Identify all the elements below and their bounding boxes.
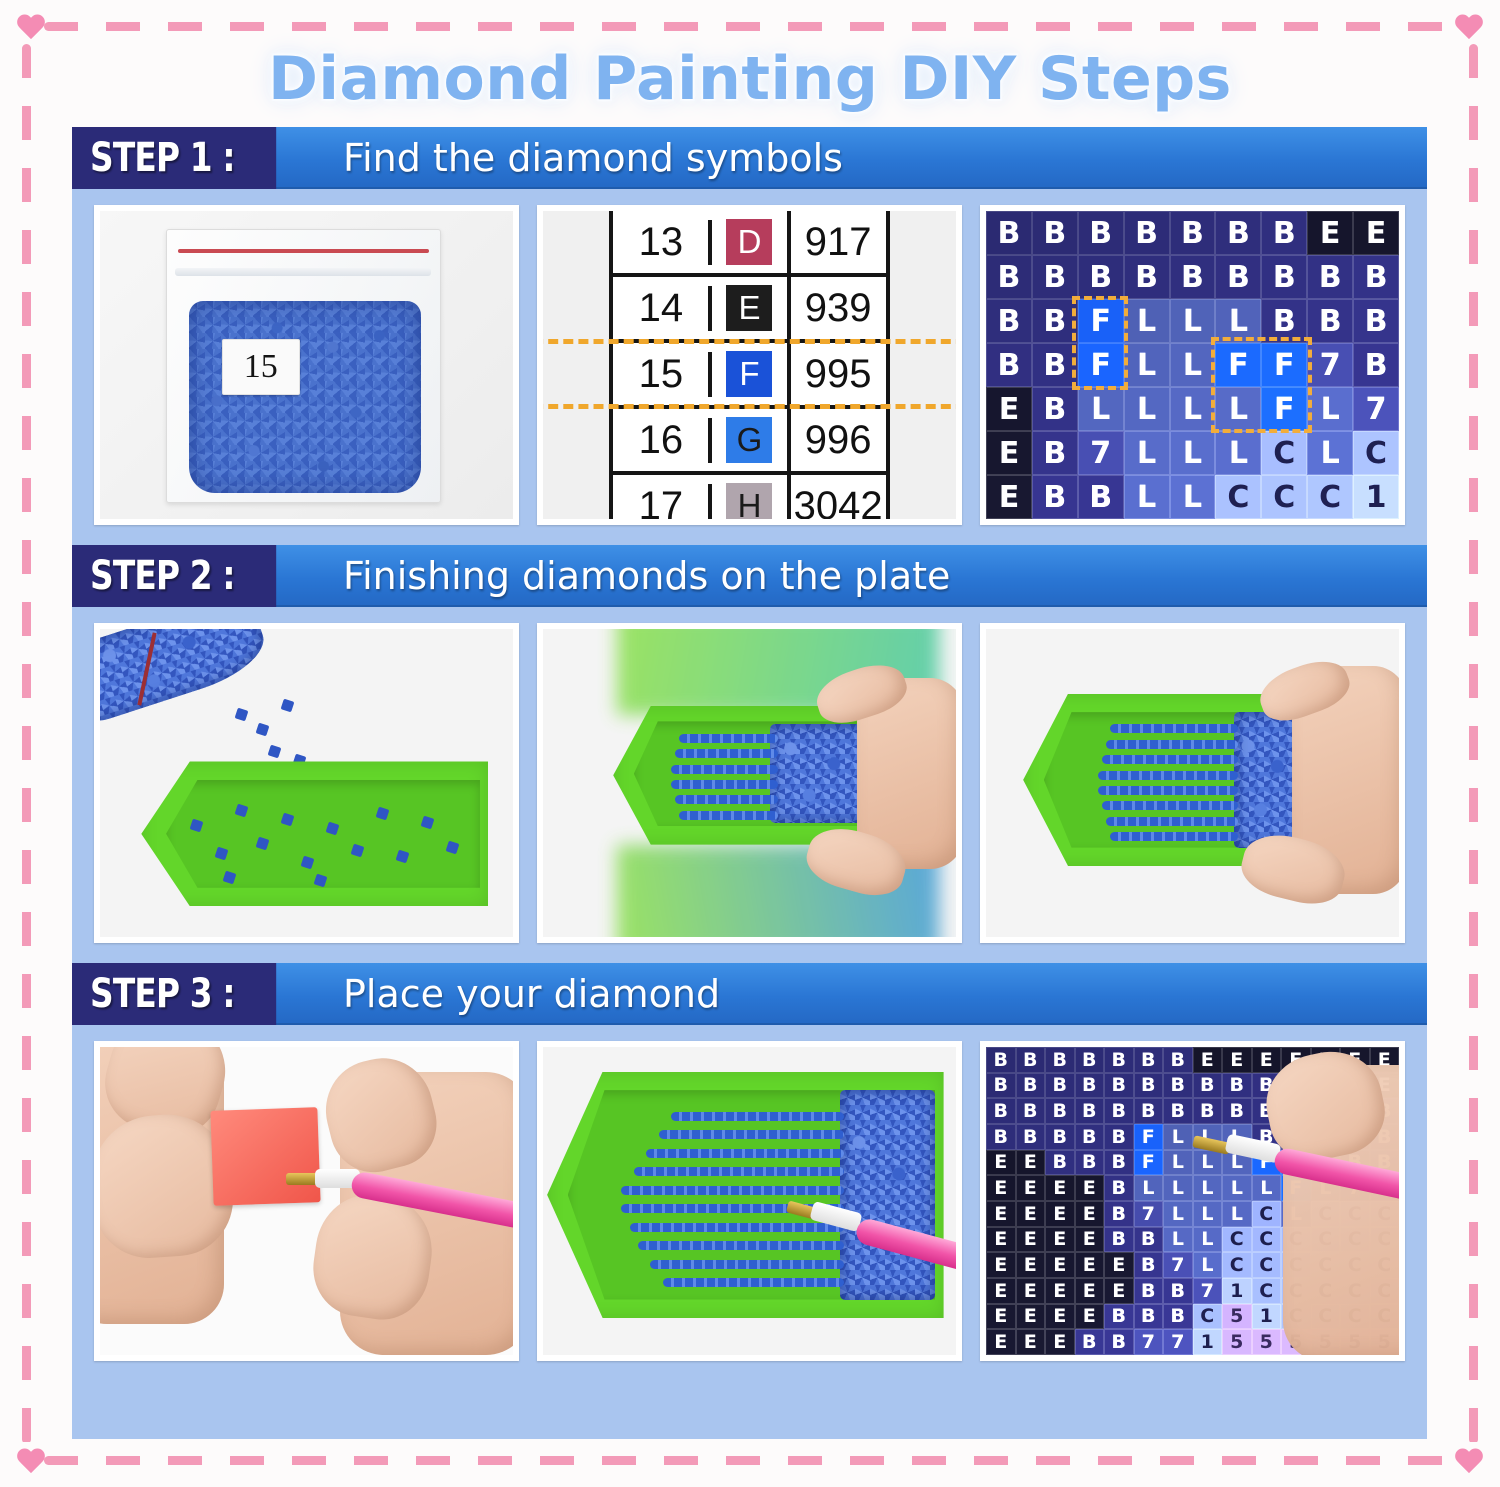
- grid-cell: L: [1163, 1175, 1193, 1201]
- grid-cell: B: [1261, 255, 1307, 299]
- grid-cell: E: [986, 1227, 1016, 1253]
- grid-cell: B: [1104, 1227, 1134, 1253]
- grid-cell: B: [1353, 255, 1399, 299]
- grid-cell: L: [1307, 431, 1353, 475]
- grid-cell: B: [1193, 1073, 1223, 1099]
- grid-cell: E: [1252, 1047, 1282, 1073]
- chart-row-symbol: G: [712, 409, 790, 471]
- grid-cell: L: [1124, 431, 1170, 475]
- grid-cell: B: [1170, 255, 1216, 299]
- grid-cell: B: [986, 1098, 1016, 1124]
- grid-cell: B: [1134, 1098, 1164, 1124]
- grid-cell: 1: [1193, 1329, 1223, 1355]
- symbol-chip: H: [726, 483, 772, 519]
- chart-row: 15F995: [613, 343, 886, 409]
- steps-panel: STEP 1 : Find the diamond symbols 15: [72, 127, 1427, 1439]
- grid-cell: B: [1222, 1098, 1252, 1124]
- grid-cell: B: [1353, 299, 1399, 343]
- grid-cell: C: [1261, 431, 1307, 475]
- chart-row-code: 917: [791, 220, 886, 265]
- symbol-chip: D: [726, 219, 772, 265]
- grid-cell: B: [1134, 1047, 1164, 1073]
- grid-cell: L: [1215, 431, 1261, 475]
- grid-cell: B: [1261, 211, 1307, 255]
- grid-cell: L: [1170, 299, 1216, 343]
- grid-cell: 5: [1252, 1329, 1282, 1355]
- grid-cell: E: [1045, 1329, 1075, 1355]
- grid-cell: E: [986, 1252, 1016, 1278]
- grid-cell: B: [1163, 1278, 1193, 1304]
- grid-cell: E: [1104, 1252, 1134, 1278]
- grid-cell: B: [1104, 1047, 1134, 1073]
- chart-row-code: 996: [791, 418, 886, 463]
- grid-cell: B: [1075, 1124, 1105, 1150]
- grid-cell: 7: [1353, 387, 1399, 431]
- grid-cell: C: [1252, 1227, 1282, 1253]
- step-1-title: Find the diamond symbols: [321, 127, 843, 189]
- grid-cell: B: [1104, 1329, 1134, 1355]
- grid-cell: B: [1134, 1278, 1164, 1304]
- chart-row-symbol: F: [712, 343, 790, 405]
- grid-cell: B: [1032, 431, 1078, 475]
- grid-cell: B: [1032, 211, 1078, 255]
- grid-cell: C: [1252, 1278, 1282, 1304]
- grid-cell: B: [986, 255, 1032, 299]
- grid-cell: L: [1170, 343, 1216, 387]
- chart-row: 13D917: [613, 211, 886, 277]
- grid-cell: B: [1104, 1124, 1134, 1150]
- grid-cell: B: [1163, 1098, 1193, 1124]
- grid-cell: B: [986, 299, 1032, 343]
- grid-cell: L: [1124, 299, 1170, 343]
- grid-cell: B: [1222, 1073, 1252, 1099]
- step-2-images: [72, 607, 1427, 963]
- grid-cell: E: [1075, 1278, 1105, 1304]
- grid-cell: E: [1016, 1201, 1046, 1227]
- step-3-header: STEP 3 : Place your diamond: [72, 963, 1427, 1025]
- bag-zip-seal: [178, 249, 429, 253]
- grid-cell: B: [1104, 1304, 1134, 1330]
- symbol-chip: G: [726, 417, 772, 463]
- grid-cell: E: [986, 1278, 1016, 1304]
- grid-cell: C: [1215, 475, 1261, 519]
- grid-cell: B: [1124, 211, 1170, 255]
- section-step-2: STEP 2 : Finishing diamonds on the plate: [72, 545, 1427, 963]
- step-1-header: STEP 1 : Find the diamond symbols: [72, 127, 1427, 189]
- symbol-chart-table: 13D91714E93915F99516G99617H3042: [609, 211, 890, 519]
- grid-cell: L: [1193, 1201, 1223, 1227]
- grid-cell: B: [1075, 1098, 1105, 1124]
- grid-cell: L: [1252, 1175, 1282, 1201]
- grid-cell: L: [1170, 431, 1216, 475]
- grid-cell: B: [1016, 1098, 1046, 1124]
- grid-cell: L: [1163, 1201, 1193, 1227]
- grid-cell: E: [1307, 211, 1353, 255]
- grid-cell: B: [1261, 299, 1307, 343]
- grid-cell: L: [1222, 1201, 1252, 1227]
- grid-cell: E: [986, 387, 1032, 431]
- grid-cell: B: [1045, 1150, 1075, 1176]
- grid-cell: E: [1016, 1252, 1046, 1278]
- chart-row-number: 14: [613, 286, 712, 331]
- grid-cell: F: [1261, 387, 1307, 431]
- shake-tray-photo: [537, 623, 962, 943]
- border-dash-left: [22, 44, 31, 1444]
- grid-cell: B: [1134, 1304, 1164, 1330]
- grid-cell: 5: [1222, 1304, 1252, 1330]
- grid-cell: L: [1134, 1175, 1164, 1201]
- grid-cell: B: [1170, 211, 1216, 255]
- grid-cell: 7: [1163, 1329, 1193, 1355]
- symbol-chip: F: [726, 351, 772, 397]
- grid-cell: E: [1016, 1227, 1046, 1253]
- step-3-title: Place your diamond: [321, 963, 720, 1025]
- grid-cell: E: [1045, 1227, 1075, 1253]
- step-3-badge: STEP 3 :: [72, 963, 276, 1025]
- chart-row: 16G996: [613, 409, 886, 475]
- grid-cell: B: [1193, 1098, 1223, 1124]
- grid-cell: C: [1222, 1227, 1252, 1253]
- chart-row-number: 15: [613, 352, 712, 397]
- grid-cell: E: [1045, 1201, 1075, 1227]
- grid-cell: B: [986, 343, 1032, 387]
- grid-cell: L: [1215, 299, 1261, 343]
- grid-cell: B: [1134, 1252, 1164, 1278]
- grid-cell: B: [1045, 1098, 1075, 1124]
- chart-row-number: 16: [613, 418, 712, 463]
- grid-cell: E: [1222, 1047, 1252, 1073]
- grid-cell: L: [1124, 343, 1170, 387]
- grid-cell: B: [1163, 1304, 1193, 1330]
- grid-cell: E: [1104, 1278, 1134, 1304]
- bead-heap: [840, 1090, 935, 1299]
- page-title-wrap: Diamond Painting DIY Steps: [0, 36, 1500, 122]
- grid-cell: E: [1016, 1175, 1046, 1201]
- grid-cell: E: [986, 1175, 1016, 1201]
- grid-cell: L: [1170, 475, 1216, 519]
- step-1-badge: STEP 1 :: [72, 127, 276, 189]
- symbol-chart-photo: 13D91714E93915F99516G99617H3042: [537, 205, 962, 525]
- grid-cell: 1: [1222, 1278, 1252, 1304]
- grid-cell: B: [1215, 255, 1261, 299]
- grid-cell: E: [986, 1150, 1016, 1176]
- wax-square: [210, 1107, 321, 1206]
- grid-cell: F: [1261, 343, 1307, 387]
- grid-cell: L: [1170, 387, 1216, 431]
- border-dash-bottom: [44, 1456, 1456, 1465]
- grid-cell: E: [1075, 1252, 1105, 1278]
- grid-cell: B: [1215, 211, 1261, 255]
- page-title: Diamond Painting DIY Steps: [268, 44, 1232, 114]
- symbol-chip: E: [726, 285, 772, 331]
- wax-pen-photo: [94, 1041, 519, 1361]
- grid-cell: E: [986, 1201, 1016, 1227]
- grid-cell: B: [1353, 343, 1399, 387]
- grid-cell: E: [1016, 1329, 1046, 1355]
- chart-row: 14E939: [613, 277, 886, 343]
- grid-cell: B: [1134, 1073, 1164, 1099]
- pick-bead-photo: [537, 1041, 962, 1361]
- grid-cell: 7: [1134, 1201, 1164, 1227]
- chart-row-symbol: D: [712, 211, 790, 273]
- grid-cell: B: [986, 1047, 1016, 1073]
- poster-root: Diamond Painting DIY Steps STEP 1 : Find…: [0, 0, 1500, 1487]
- grid-cell: F: [1134, 1124, 1164, 1150]
- grid-cell: F: [1134, 1150, 1164, 1176]
- grid-cell: L: [1078, 387, 1124, 431]
- grid-cell: L: [1124, 387, 1170, 431]
- grid-cell: B: [1016, 1047, 1046, 1073]
- chart-row-number: 13: [613, 220, 712, 265]
- grid-cell: E: [1016, 1304, 1046, 1330]
- grid-cell: 1: [1353, 475, 1399, 519]
- grid-cell: B: [1045, 1124, 1075, 1150]
- chart-row-number: 17: [613, 484, 712, 520]
- grid-cell: B: [1075, 1047, 1105, 1073]
- grid-cell: L: [1215, 387, 1261, 431]
- grid-cell: E: [1075, 1227, 1105, 1253]
- grid-cell: B: [1104, 1098, 1134, 1124]
- grid-cell: B: [1016, 1124, 1046, 1150]
- grid-cell: L: [1163, 1124, 1193, 1150]
- chart-row-symbol: H: [712, 475, 790, 519]
- grid-cell: E: [1353, 211, 1399, 255]
- bead-bag-photo: 15: [94, 205, 519, 525]
- border-dash-top: [44, 22, 1456, 31]
- grid-cell: B: [1104, 1073, 1134, 1099]
- grid-cell: L: [1193, 1227, 1223, 1253]
- chart-row: 17H3042: [613, 475, 886, 519]
- grid-cell: E: [1045, 1278, 1075, 1304]
- grid-cell: E: [1193, 1047, 1223, 1073]
- grid-cell: L: [1193, 1252, 1223, 1278]
- grid-cell: L: [1163, 1150, 1193, 1176]
- grid-cell: B: [1032, 255, 1078, 299]
- grid-cell: 5: [1222, 1329, 1252, 1355]
- grid-cell: E: [1045, 1175, 1075, 1201]
- chart-row-code: 939: [791, 286, 886, 331]
- grid-cell: E: [1016, 1150, 1046, 1176]
- grid-cell: B: [1016, 1073, 1046, 1099]
- grid-cell: 7: [1134, 1329, 1164, 1355]
- grid-cell: F: [1078, 299, 1124, 343]
- grid-cell: E: [1045, 1252, 1075, 1278]
- grid-cell: B: [1307, 299, 1353, 343]
- grid-cell: C: [1193, 1304, 1223, 1330]
- grid-cell: B: [1163, 1047, 1193, 1073]
- bag-zip-track: [175, 268, 431, 276]
- grid-cell: E: [986, 431, 1032, 475]
- grid-cell: L: [1163, 1227, 1193, 1253]
- grid-cell: E: [1075, 1201, 1105, 1227]
- grid-cell: B: [1032, 299, 1078, 343]
- grid-cell: B: [1078, 475, 1124, 519]
- grid-cell: L: [1307, 387, 1353, 431]
- grid-cell: C: [1252, 1201, 1282, 1227]
- symbol-grid: BBBBBBBEEBBBBBBBBBBBFLLLBBBBBFLLFF7BEBLL…: [986, 211, 1399, 519]
- step-2-header: STEP 2 : Finishing diamonds on the plate: [72, 545, 1427, 607]
- grid-cell: L: [1193, 1175, 1223, 1201]
- grid-cell: C: [1252, 1252, 1282, 1278]
- chart-row-symbol: E: [712, 277, 790, 339]
- grid-cell: E: [986, 1304, 1016, 1330]
- grid-cell: E: [986, 1329, 1016, 1355]
- heart-icon-bottom-left: [16, 1448, 46, 1476]
- bag-number-label: 15: [222, 339, 300, 395]
- grid-cell: L: [1124, 475, 1170, 519]
- grid-cell: B: [1032, 343, 1078, 387]
- section-step-3: STEP 3 : Place your diamond: [72, 963, 1427, 1381]
- pen-tip: [286, 1173, 319, 1185]
- place-bead-grid-photo: BBBBBBBEEEEEEEBBBBBBBBBBEEBEBBBBBBBBBBBB…: [980, 1041, 1405, 1361]
- grid-cell: 7: [1193, 1278, 1223, 1304]
- border-dash-right: [1469, 44, 1478, 1444]
- grid-cell: B: [1104, 1150, 1134, 1176]
- grid-cell: E: [986, 475, 1032, 519]
- bead-mass: [189, 301, 421, 493]
- symbol-grid-photo: BBBBBBBEEBBBBBBBBBBBFLLLBBBBBFLLFF7BEBLL…: [980, 205, 1405, 525]
- chart-row-code: 995: [791, 352, 886, 397]
- grid-cell: B: [986, 1073, 1016, 1099]
- bead-bag: 15: [166, 229, 441, 502]
- pour-beads-photo: [94, 623, 519, 943]
- grid-cell: B: [1075, 1329, 1105, 1355]
- grid-cell: 7: [1307, 343, 1353, 387]
- chart-row-code: 3042: [791, 484, 886, 520]
- step-1-images: 15 13D91714E93915F99516G99617H3042: [72, 189, 1427, 545]
- section-step-1: STEP 1 : Find the diamond symbols 15: [72, 127, 1427, 545]
- grid-cell: B: [986, 1124, 1016, 1150]
- grid-cell: B: [1104, 1175, 1134, 1201]
- step-2-title: Finishing diamonds on the plate: [321, 545, 950, 607]
- grid-cell: E: [1075, 1175, 1105, 1201]
- aligned-beads-photo: [980, 623, 1405, 943]
- step-3-images: BBBBBBBEEEEEEEBBBBBBBBBBEEBEBBBBBBBBBBBB…: [72, 1025, 1427, 1381]
- grid-cell: B: [1032, 387, 1078, 431]
- grid-cell: L: [1222, 1175, 1252, 1201]
- grid-cell: C: [1307, 475, 1353, 519]
- grid-cell: B: [1045, 1047, 1075, 1073]
- grid-cell: B: [1075, 1150, 1105, 1176]
- grid-cell: B: [1134, 1227, 1164, 1253]
- grid-cell: B: [1075, 1073, 1105, 1099]
- grid-cell: B: [986, 211, 1032, 255]
- grid-cell: 7: [1163, 1252, 1193, 1278]
- grid-cell: B: [1078, 211, 1124, 255]
- grid-cell: F: [1215, 343, 1261, 387]
- tray-well: [166, 780, 480, 888]
- grid-cell: B: [1104, 1201, 1134, 1227]
- grid-cell: B: [1124, 255, 1170, 299]
- heart-icon-bottom-right: [1454, 1448, 1484, 1476]
- grid-cell: C: [1353, 431, 1399, 475]
- grid-cell: C: [1222, 1252, 1252, 1278]
- step-2-badge: STEP 2 :: [72, 545, 276, 607]
- grid-cell: F: [1078, 343, 1124, 387]
- grid-cell: B: [1032, 475, 1078, 519]
- grid-cell: E: [1045, 1304, 1075, 1330]
- grid-cell: B: [1163, 1073, 1193, 1099]
- grid-cell: B: [1307, 255, 1353, 299]
- grid-cell: E: [1075, 1304, 1105, 1330]
- grid-cell: 1: [1252, 1304, 1282, 1330]
- grid-cell: C: [1261, 475, 1307, 519]
- grid-cell: 7: [1078, 431, 1124, 475]
- grid-cell: L: [1193, 1150, 1223, 1176]
- grid-cell: B: [1078, 255, 1124, 299]
- grid-cell: E: [1016, 1278, 1046, 1304]
- grid-cell: B: [1045, 1073, 1075, 1099]
